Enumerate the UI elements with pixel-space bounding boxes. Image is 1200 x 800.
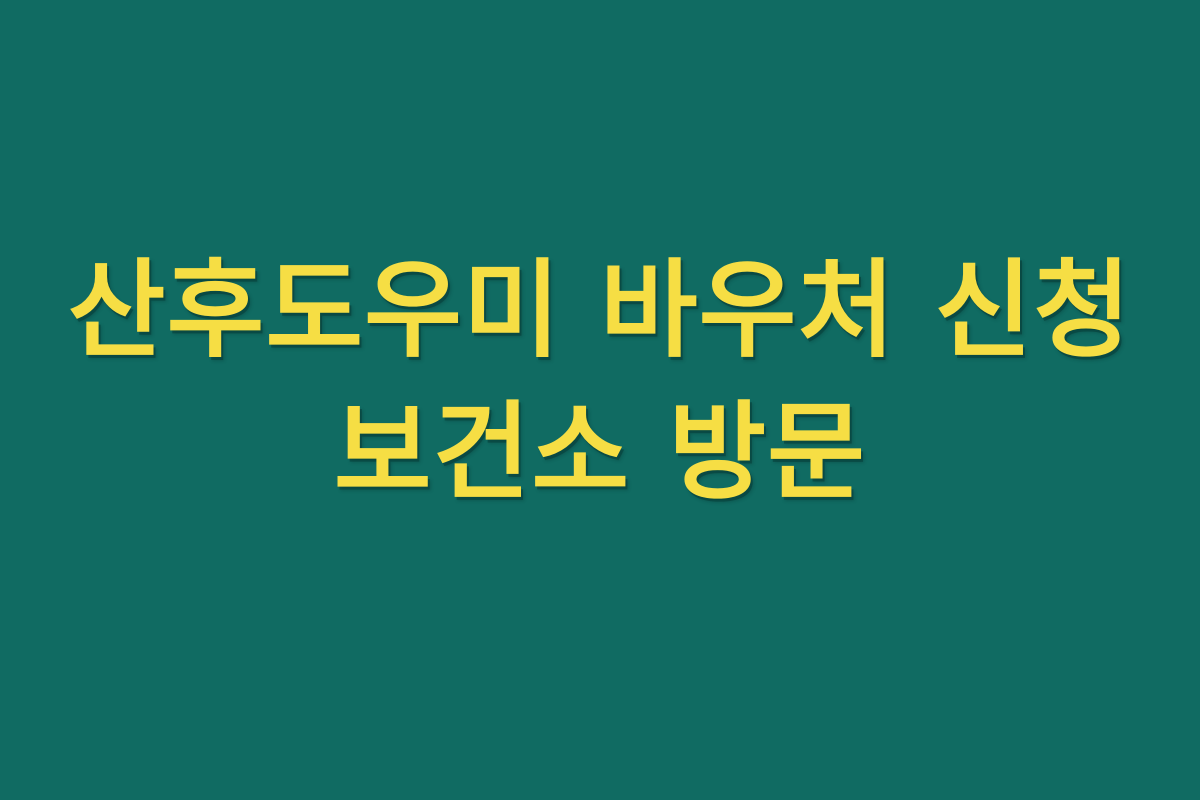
- headline-line-1: 산후도우미 바우처 신청: [0, 238, 1200, 383]
- headline-block: 산후도우미 바우처 신청 보건소 방문: [0, 238, 1200, 525]
- poster-canvas: 산후도우미 바우처 신청 보건소 방문: [0, 0, 1200, 800]
- headline-line-2: 보건소 방문: [0, 380, 1200, 525]
